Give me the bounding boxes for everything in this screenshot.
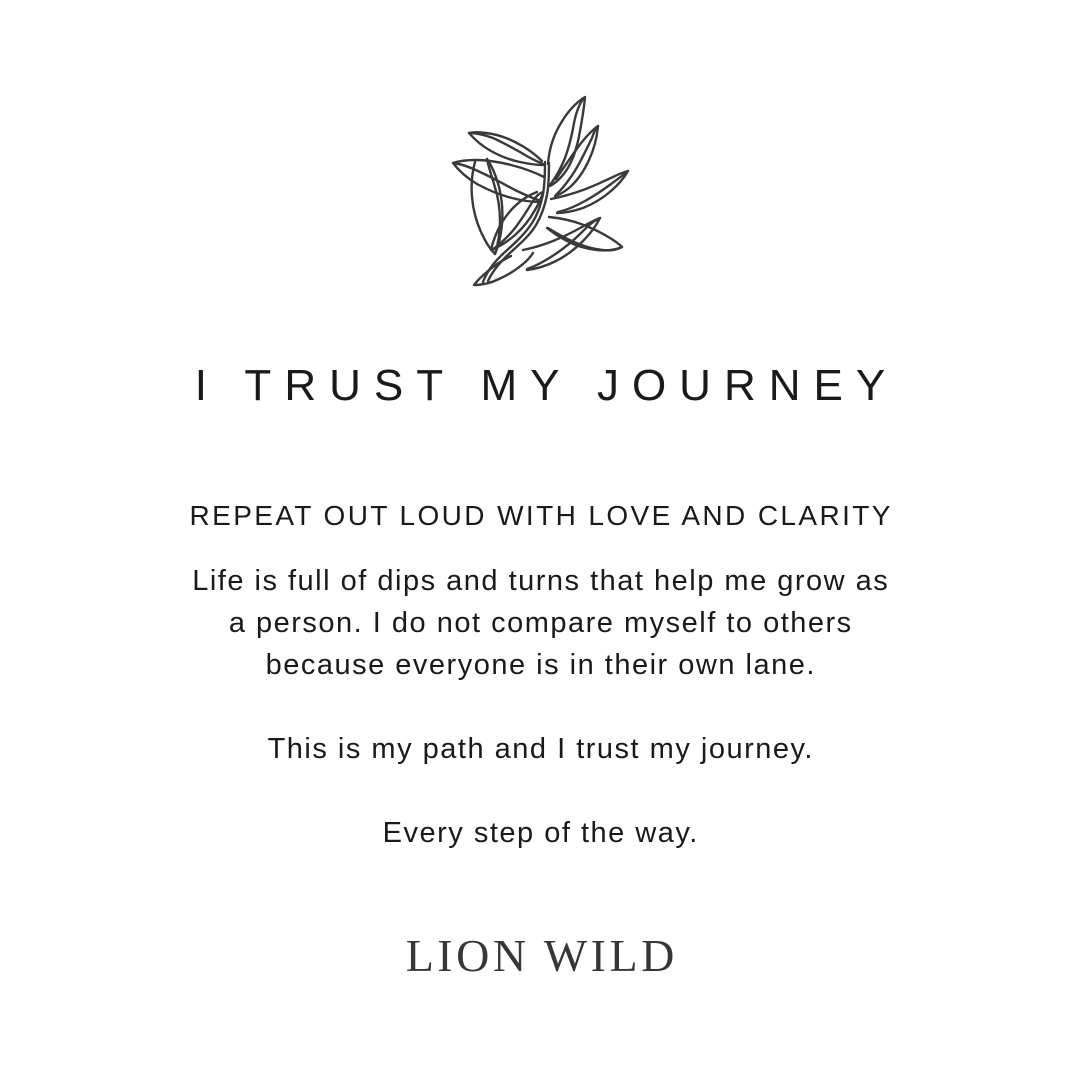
body-line: because everyone is in their own lane. — [0, 644, 1080, 686]
paragraph: Life is full of dips and turns that help… — [0, 560, 1080, 686]
paragraph: This is my path and I trust my journey. — [0, 728, 1080, 770]
affirmation-card: I TRUST MY JOURNEY REPEAT OUT LOUD WITH … — [0, 0, 1080, 1080]
body-line: This is my path and I trust my journey. — [0, 728, 1080, 770]
body-line: Every step of the way. — [0, 812, 1080, 854]
botanical-sprig-icon — [435, 78, 645, 290]
body-line: a person. I do not compare myself to oth… — [0, 602, 1080, 644]
botanical-sprig-illustration — [435, 78, 645, 290]
subtitle: REPEAT OUT LOUD WITH LOVE AND CLARITY — [0, 499, 1080, 533]
body-line: Life is full of dips and turns that help… — [0, 560, 1080, 602]
affirmation-body: Life is full of dips and turns that help… — [0, 560, 1080, 854]
page-title: I TRUST MY JOURNEY — [0, 361, 1080, 410]
brand-logo: LION WILD — [0, 930, 1080, 983]
paragraph: Every step of the way. — [0, 812, 1080, 854]
